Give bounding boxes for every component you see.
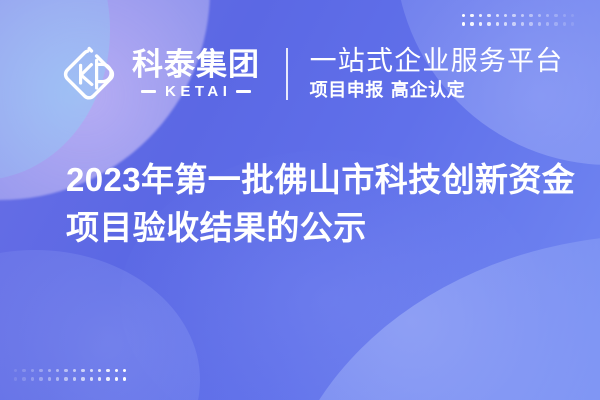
grid-dot xyxy=(563,14,566,17)
tagline-primary: 一站式企业服务平台 xyxy=(310,46,564,77)
grid-dot xyxy=(512,14,515,17)
grid-dot xyxy=(56,369,59,372)
grid-dot xyxy=(521,22,524,25)
grid-dot xyxy=(462,22,465,25)
grid-dot xyxy=(81,377,84,380)
grid-dot xyxy=(571,22,574,25)
page-title: 2023年第一批佛山市科技创新资金 项目验收结果的公示 xyxy=(66,156,566,252)
grid-dot xyxy=(14,377,17,380)
wordmark-rule-left-icon xyxy=(141,90,156,93)
brand-name-cn: 科泰集团 xyxy=(132,49,260,82)
grid-dot xyxy=(39,377,42,380)
grid-dot xyxy=(521,14,524,17)
grid-dot xyxy=(504,22,507,25)
grid-dot xyxy=(115,377,118,380)
grid-dot xyxy=(31,377,34,380)
brand-name-en: KETAI xyxy=(161,84,232,99)
grid-dot xyxy=(22,369,25,372)
grid-dot xyxy=(64,377,67,380)
grid-dot xyxy=(512,22,515,25)
banner-header: 科泰集团 KETAI 一站式企业服务平台 项目申报 高企认定 xyxy=(0,36,600,112)
grid-dot xyxy=(571,14,574,17)
grid-dot xyxy=(529,22,532,25)
grid-dot xyxy=(496,22,499,25)
brand-wordmark: 科泰集团 KETAI xyxy=(132,49,260,100)
grid-dot xyxy=(123,369,126,372)
grid-dot xyxy=(529,14,532,17)
dot-grid-top-right xyxy=(462,14,574,26)
grid-dot xyxy=(554,22,557,25)
grid-dot xyxy=(546,14,549,17)
grid-dot xyxy=(538,22,541,25)
grid-dot xyxy=(98,377,101,380)
grid-dot xyxy=(479,14,482,17)
grid-dot xyxy=(470,14,473,17)
tagline-block: 一站式企业服务平台 项目申报 高企认定 xyxy=(310,46,564,103)
page-title-line-1: 2023年第一批佛山市科技创新资金 xyxy=(66,156,566,204)
grid-dot xyxy=(115,369,118,372)
grid-dot xyxy=(546,22,549,25)
grid-dot xyxy=(39,369,42,372)
grid-dot xyxy=(554,14,557,17)
grid-dot xyxy=(496,14,499,17)
grid-dot xyxy=(31,369,34,372)
decorative-blob-lower-left xyxy=(0,250,200,400)
grid-dot xyxy=(487,14,490,17)
grid-dot xyxy=(22,377,25,380)
grid-dot xyxy=(106,377,109,380)
ketai-diamond-monogram-icon xyxy=(58,43,120,105)
grid-dot xyxy=(14,369,17,372)
grid-dot xyxy=(470,22,473,25)
grid-dot xyxy=(73,377,76,380)
wordmark-rule-right-icon xyxy=(236,90,251,93)
header-divider xyxy=(286,48,288,100)
grid-dot xyxy=(538,14,541,17)
grid-dot xyxy=(563,22,566,25)
grid-dot xyxy=(56,377,59,380)
grid-dot xyxy=(98,369,101,372)
grid-dot xyxy=(106,369,109,372)
grid-dot xyxy=(64,369,67,372)
grid-dot xyxy=(504,14,507,17)
grid-dot xyxy=(48,369,51,372)
tagline-secondary: 项目申报 高企认定 xyxy=(310,79,564,102)
grid-dot xyxy=(487,22,490,25)
brand-name-en-row: KETAI xyxy=(132,84,260,99)
grid-dot xyxy=(123,377,126,380)
grid-dot xyxy=(479,22,482,25)
grid-dot xyxy=(462,14,465,17)
page-title-line-2: 项目验收结果的公示 xyxy=(66,204,566,252)
brand-logo[interactable]: 科泰集团 KETAI xyxy=(58,43,260,105)
grid-dot xyxy=(90,377,93,380)
announcement-banner: 科泰集团 KETAI 一站式企业服务平台 项目申报 高企认定 2023年第一批佛… xyxy=(0,0,600,400)
dot-grid-bottom-left xyxy=(14,369,126,381)
grid-dot xyxy=(48,377,51,380)
grid-dot xyxy=(81,369,84,372)
grid-dot xyxy=(73,369,76,372)
grid-dot xyxy=(90,369,93,372)
decorative-blob-bottom-right xyxy=(275,235,600,400)
